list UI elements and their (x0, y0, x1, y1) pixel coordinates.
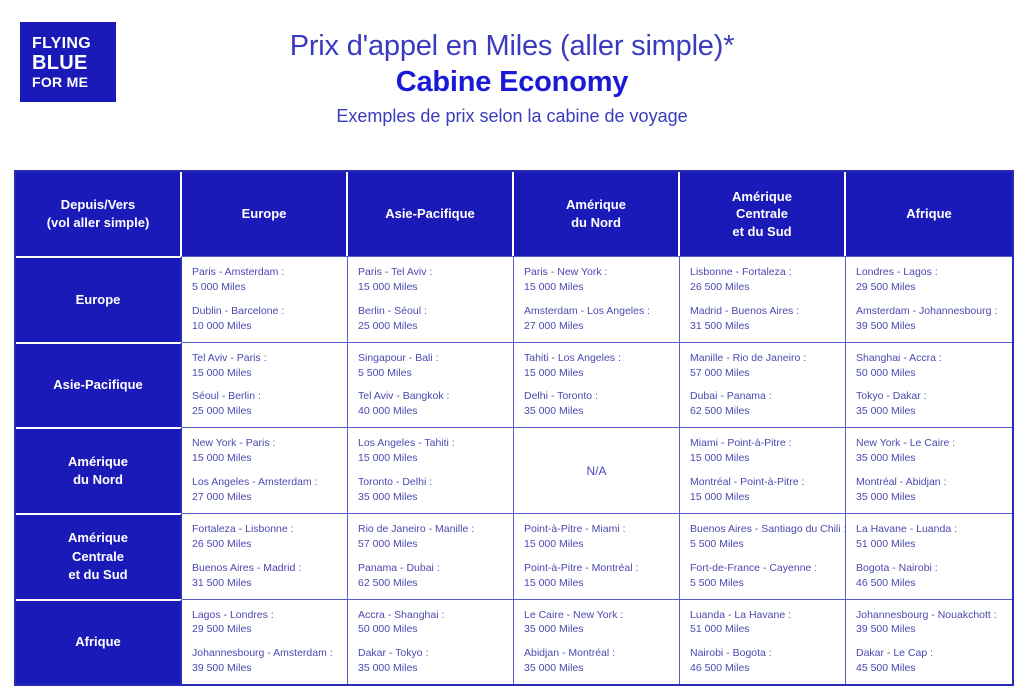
table-row: Asie-PacifiqueTel Aviv - Paris :15 000 M… (16, 342, 1012, 428)
fare-entry: Berlin - Séoul :25 000 Miles (358, 304, 503, 334)
fare-route: Montréal - Abidjan : (856, 475, 1002, 490)
fare-miles: 5 500 Miles (690, 537, 835, 552)
fare-route: Paris - New York : (524, 265, 669, 280)
column-header-asia-pacific: Asie-Pacifique (348, 172, 514, 256)
fare-cell: N/A (514, 427, 680, 513)
fare-miles: 15 000 Miles (524, 280, 669, 295)
fare-miles: 10 000 Miles (192, 319, 337, 334)
fare-cell: Tahiti - Los Angeles :15 000 MilesDelhi … (514, 342, 680, 428)
fare-miles: 50 000 Miles (358, 622, 503, 637)
fare-entry: New York - Le Caire :35 000 Miles (856, 436, 1002, 466)
fare-route: Bogota - Nairobi : (856, 561, 1002, 576)
fare-route: Buenos Aires - Madrid : (192, 561, 337, 576)
fare-route: Lagos - Londres : (192, 608, 337, 623)
column-header-central-south-america: Amérique Centrale et du Sud (680, 172, 846, 256)
fare-route: Paris - Tel Aviv : (358, 265, 503, 280)
fare-entry: Point-à-Pitre - Miami :15 000 Miles (524, 522, 669, 552)
fare-entry: Dakar - Le Cap :45 500 Miles (856, 646, 1002, 676)
fare-cell: La Havane - Luanda :51 000 MilesBogota -… (846, 513, 1012, 599)
fare-entry: Rio de Janeiro - Manille :57 000 Miles (358, 522, 503, 552)
fare-cell: Manille - Rio de Janeiro :57 000 MilesDu… (680, 342, 846, 428)
fare-miles: 27 000 Miles (524, 319, 669, 334)
fare-entry: Paris - Tel Aviv :15 000 Miles (358, 265, 503, 295)
fare-route: Buenos Aires - Santiago du Chili : (690, 522, 835, 537)
fare-cell: Londres - Lagos :29 500 MilesAmsterdam -… (846, 256, 1012, 342)
row-header-3: Amériquedu Nord (16, 427, 182, 513)
fare-route: Madrid - Buenos Aires : (690, 304, 835, 319)
row-header-line: Amérique (22, 453, 174, 471)
column-header-north-america-line2: du Nord (520, 214, 672, 232)
fare-route: Berlin - Séoul : (358, 304, 503, 319)
fare-cell: Tel Aviv - Paris :15 000 MilesSéoul - Be… (182, 342, 348, 428)
fare-route: Abidjan - Montréal : (524, 646, 669, 661)
fare-entry: Nairobi - Bogota :46 500 Miles (690, 646, 835, 676)
fare-entry: Accra - Shanghai :50 000 Miles (358, 608, 503, 638)
fare-route: Tokyo - Dakar : (856, 389, 1002, 404)
fare-entry: Fortaleza - Lisbonne :26 500 Miles (192, 522, 337, 552)
fare-cell: Paris - Tel Aviv :15 000 MilesBerlin - S… (348, 256, 514, 342)
fare-miles: 29 500 Miles (192, 622, 337, 637)
fare-cell: Fortaleza - Lisbonne :26 500 MilesBuenos… (182, 513, 348, 599)
fare-route: Delhi - Toronto : (524, 389, 669, 404)
fare-entry: Buenos Aires - Santiago du Chili :5 500 … (690, 522, 835, 552)
fare-entry: Johannesbourg - Amsterdam :39 500 Miles (192, 646, 337, 676)
fare-miles: 26 500 Miles (690, 280, 835, 295)
fare-route: Amsterdam - Johannesbourg : (856, 304, 1002, 319)
fare-miles: 35 000 Miles (856, 490, 1002, 505)
fare-cell: Le Caire - New York :35 000 MilesAbidjan… (514, 599, 680, 685)
fare-entry: Shanghai - Accra :50 000 Miles (856, 351, 1002, 381)
fare-miles: 5 500 Miles (690, 576, 835, 591)
fare-cell: Johannesbourg - Nouakchott :39 500 Miles… (846, 599, 1012, 685)
fare-route: New York - Le Caire : (856, 436, 1002, 451)
fare-miles: 51 000 Miles (856, 537, 1002, 552)
fare-entry: Le Caire - New York :35 000 Miles (524, 608, 669, 638)
fare-route: Fort-de-France - Cayenne : (690, 561, 835, 576)
fare-table-head: Depuis/Vers (vol aller simple) Europe As… (16, 172, 1012, 256)
fare-route: Toronto - Delhi : (358, 475, 503, 490)
fare-entry: Dakar - Tokyo :35 000 Miles (358, 646, 503, 676)
fare-miles: 27 000 Miles (192, 490, 337, 505)
page-caption: Exemples de prix selon la cabine de voya… (0, 106, 1024, 127)
fare-cell: Singapour - Bali :5 500 MilesTel Aviv - … (348, 342, 514, 428)
fare-route: Johannesbourg - Amsterdam : (192, 646, 337, 661)
fare-route: Lisbonne - Fortaleza : (690, 265, 835, 280)
fare-cell: Rio de Janeiro - Manille :57 000 MilesPa… (348, 513, 514, 599)
fare-entry: Tokyo - Dakar :35 000 Miles (856, 389, 1002, 419)
fare-entry: La Havane - Luanda :51 000 Miles (856, 522, 1002, 552)
page-title: Prix d'appel en Miles (aller simple)* (0, 30, 1024, 63)
fare-miles: 35 000 Miles (524, 622, 669, 637)
fare-miles: 39 500 Miles (192, 661, 337, 676)
fare-route: Fortaleza - Lisbonne : (192, 522, 337, 537)
fare-miles: 31 500 Miles (690, 319, 835, 334)
fare-table-body: EuropeParis - Amsterdam :5 000 MilesDubl… (16, 256, 1012, 684)
fare-cell: New York - Le Caire :35 000 MilesMontréa… (846, 427, 1012, 513)
fare-miles: 35 000 Miles (856, 404, 1002, 419)
fare-miles: 62 500 Miles (690, 404, 835, 419)
fare-entry: Tel Aviv - Bangkok :40 000 Miles (358, 389, 503, 419)
fare-cell: Lisbonne - Fortaleza :26 500 MilesMadrid… (680, 256, 846, 342)
fare-route: Johannesbourg - Nouakchott : (856, 608, 1002, 623)
column-header-central-south-america-line1: Amérique (686, 188, 838, 206)
row-header-5: Afrique (16, 599, 182, 685)
fare-route: Manille - Rio de Janeiro : (690, 351, 835, 366)
fare-table: Depuis/Vers (vol aller simple) Europe As… (14, 170, 1014, 686)
row-header-line: et du Sud (22, 566, 174, 584)
row-header-line: Centrale (22, 548, 174, 566)
row-header-1: Europe (16, 256, 182, 342)
fare-cell: New York - Paris :15 000 MilesLos Angele… (182, 427, 348, 513)
fare-miles: 15 000 Miles (690, 490, 835, 505)
fare-entry: Delhi - Toronto :35 000 Miles (524, 389, 669, 419)
fare-entry: Johannesbourg - Nouakchott :39 500 Miles (856, 608, 1002, 638)
fare-entry: Luanda - La Havane :51 000 Miles (690, 608, 835, 638)
fare-route: New York - Paris : (192, 436, 337, 451)
fare-route: Singapour - Bali : (358, 351, 503, 366)
fare-entry: Fort-de-France - Cayenne :5 500 Miles (690, 561, 835, 591)
row-header-line: Asie-Pacifique (22, 376, 174, 394)
fare-entry: Buenos Aires - Madrid :31 500 Miles (192, 561, 337, 591)
fare-miles: 15 000 Miles (690, 451, 835, 466)
fare-miles: 15 000 Miles (358, 451, 503, 466)
fare-route: Los Angeles - Tahiti : (358, 436, 503, 451)
fare-route: Le Caire - New York : (524, 608, 669, 623)
fare-route: Tel Aviv - Paris : (192, 351, 337, 366)
fare-entry: Manille - Rio de Janeiro :57 000 Miles (690, 351, 835, 381)
fare-route: Point-à-Pitre - Miami : (524, 522, 669, 537)
fare-entry: Abidjan - Montréal :35 000 Miles (524, 646, 669, 676)
fare-cell: Buenos Aires - Santiago du Chili :5 500 … (680, 513, 846, 599)
fare-route: Dakar - Tokyo : (358, 646, 503, 661)
fare-entry: Montréal - Point-à-Pitre :15 000 Miles (690, 475, 835, 505)
fare-route: Rio de Janeiro - Manille : (358, 522, 503, 537)
fare-cell: Paris - Amsterdam :5 000 MilesDublin - B… (182, 256, 348, 342)
fare-miles: 35 000 Miles (524, 661, 669, 676)
column-header-north-america: Amérique du Nord (514, 172, 680, 256)
fare-entry: Paris - Amsterdam :5 000 Miles (192, 265, 337, 295)
fare-cell: Miami - Point-à-Pitre :15 000 MilesMontr… (680, 427, 846, 513)
fare-miles: 46 500 Miles (690, 661, 835, 676)
fare-miles: 15 000 Miles (192, 451, 337, 466)
fare-miles: 35 000 Miles (358, 661, 503, 676)
fare-route: Dublin - Barcelone : (192, 304, 337, 319)
table-row: Amériquedu NordNew York - Paris :15 000 … (16, 427, 1012, 513)
fare-miles: 15 000 Miles (358, 280, 503, 295)
fare-miles: 35 000 Miles (358, 490, 503, 505)
fare-miles: 50 000 Miles (856, 366, 1002, 381)
fare-route: Séoul - Berlin : (192, 389, 337, 404)
column-header-origin-destination-line1: Depuis/Vers (22, 196, 174, 214)
table-row: AfriqueLagos - Londres :29 500 MilesJoha… (16, 599, 1012, 685)
fare-entry: Point-à-Pitre - Montréal :15 000 Miles (524, 561, 669, 591)
column-header-central-south-america-line3: et du Sud (686, 223, 838, 241)
fare-table-wrap: Depuis/Vers (vol aller simple) Europe As… (14, 170, 1010, 686)
fare-route: Panama - Dubai : (358, 561, 503, 576)
row-header-2: Asie-Pacifique (16, 342, 182, 428)
fare-route: Londres - Lagos : (856, 265, 1002, 280)
fare-miles: 46 500 Miles (856, 576, 1002, 591)
fare-miles: 15 000 Miles (192, 366, 337, 381)
row-header-line: Afrique (22, 633, 174, 651)
fare-entry: Miami - Point-à-Pitre :15 000 Miles (690, 436, 835, 466)
page-subtitle: Cabine Economy (0, 65, 1024, 100)
fare-miles: 5 500 Miles (358, 366, 503, 381)
fare-miles: 62 500 Miles (358, 576, 503, 591)
fare-miles: 57 000 Miles (690, 366, 835, 381)
fare-entry: Amsterdam - Los Angeles :27 000 Miles (524, 304, 669, 334)
row-header-4: AmériqueCentraleet du Sud (16, 513, 182, 599)
fare-entry: Los Angeles - Amsterdam :27 000 Miles (192, 475, 337, 505)
fare-entry: Singapour - Bali :5 500 Miles (358, 351, 503, 381)
fare-miles: 29 500 Miles (856, 280, 1002, 295)
fare-entry: Paris - New York :15 000 Miles (524, 265, 669, 295)
fare-route: Montréal - Point-à-Pitre : (690, 475, 835, 490)
fare-miles: 15 000 Miles (524, 537, 669, 552)
table-row: AmériqueCentraleet du SudFortaleza - Lis… (16, 513, 1012, 599)
fare-cell: Lagos - Londres :29 500 MilesJohannesbou… (182, 599, 348, 685)
table-header-row: Depuis/Vers (vol aller simple) Europe As… (16, 172, 1012, 256)
row-header-line: du Nord (22, 471, 174, 489)
fare-miles: 15 000 Miles (524, 366, 669, 381)
fare-route: Luanda - La Havane : (690, 608, 835, 623)
fare-entry: Tahiti - Los Angeles :15 000 Miles (524, 351, 669, 381)
fare-route: Dakar - Le Cap : (856, 646, 1002, 661)
fare-entry: Dubai - Panama :62 500 Miles (690, 389, 835, 419)
fare-miles: 5 000 Miles (192, 280, 337, 295)
fare-entry: Tel Aviv - Paris :15 000 Miles (192, 351, 337, 381)
fare-chart-page: FLYING BLUE FOR ME Prix d'appel en Miles… (0, 0, 1024, 646)
fare-miles: 35 000 Miles (524, 404, 669, 419)
fare-entry: Londres - Lagos :29 500 Miles (856, 265, 1002, 295)
fare-miles: 25 000 Miles (192, 404, 337, 419)
row-header-line: Amérique (22, 529, 174, 547)
fare-cell: Luanda - La Havane :51 000 MilesNairobi … (680, 599, 846, 685)
fare-cell: Paris - New York :15 000 MilesAmsterdam … (514, 256, 680, 342)
fare-cell: Shanghai - Accra :50 000 MilesTokyo - Da… (846, 342, 1012, 428)
fare-miles: 39 500 Miles (856, 622, 1002, 637)
page-header: FLYING BLUE FOR ME Prix d'appel en Miles… (0, 0, 1024, 160)
fare-miles: 39 500 Miles (856, 319, 1002, 334)
title-block: Prix d'appel en Miles (aller simple)* Ca… (0, 30, 1024, 127)
fare-entry: Madrid - Buenos Aires :31 500 Miles (690, 304, 835, 334)
fare-route: Tahiti - Los Angeles : (524, 351, 669, 366)
fare-miles: 25 000 Miles (358, 319, 503, 334)
fare-entry: Bogota - Nairobi :46 500 Miles (856, 561, 1002, 591)
fare-route: Tel Aviv - Bangkok : (358, 389, 503, 404)
fare-miles: 45 500 Miles (856, 661, 1002, 676)
column-header-origin-destination-line2: (vol aller simple) (22, 214, 174, 232)
column-header-europe: Europe (182, 172, 348, 256)
fare-entry: Séoul - Berlin :25 000 Miles (192, 389, 337, 419)
fare-route: Shanghai - Accra : (856, 351, 1002, 366)
fare-route: Accra - Shanghai : (358, 608, 503, 623)
fare-route: Los Angeles - Amsterdam : (192, 475, 337, 490)
row-header-line: Europe (22, 291, 174, 309)
fare-entry: Lagos - Londres :29 500 Miles (192, 608, 337, 638)
fare-miles: 31 500 Miles (192, 576, 337, 591)
column-header-origin-destination: Depuis/Vers (vol aller simple) (16, 172, 182, 256)
fare-entry: Dublin - Barcelone :10 000 Miles (192, 304, 337, 334)
fare-route: La Havane - Luanda : (856, 522, 1002, 537)
fare-cell: Los Angeles - Tahiti :15 000 MilesToront… (348, 427, 514, 513)
fare-miles: 35 000 Miles (856, 451, 1002, 466)
fare-miles: 51 000 Miles (690, 622, 835, 637)
fare-route: Paris - Amsterdam : (192, 265, 337, 280)
fare-miles: 57 000 Miles (358, 537, 503, 552)
fare-route: Nairobi - Bogota : (690, 646, 835, 661)
column-header-central-south-america-line2: Centrale (686, 205, 838, 223)
fare-route: Amsterdam - Los Angeles : (524, 304, 669, 319)
not-available-label: N/A (524, 464, 669, 478)
fare-cell: Point-à-Pitre - Miami :15 000 MilesPoint… (514, 513, 680, 599)
fare-entry: Lisbonne - Fortaleza :26 500 Miles (690, 265, 835, 295)
fare-cell: Accra - Shanghai :50 000 MilesDakar - To… (348, 599, 514, 685)
fare-entry: Montréal - Abidjan :35 000 Miles (856, 475, 1002, 505)
table-row: EuropeParis - Amsterdam :5 000 MilesDubl… (16, 256, 1012, 342)
fare-entry: Los Angeles - Tahiti :15 000 Miles (358, 436, 503, 466)
fare-route: Dubai - Panama : (690, 389, 835, 404)
fare-entry: Toronto - Delhi :35 000 Miles (358, 475, 503, 505)
fare-miles: 26 500 Miles (192, 537, 337, 552)
column-header-north-america-line1: Amérique (520, 196, 672, 214)
fare-route: Point-à-Pitre - Montréal : (524, 561, 669, 576)
fare-entry: Panama - Dubai :62 500 Miles (358, 561, 503, 591)
fare-miles: 40 000 Miles (358, 404, 503, 419)
fare-route: Miami - Point-à-Pitre : (690, 436, 835, 451)
fare-entry: New York - Paris :15 000 Miles (192, 436, 337, 466)
fare-entry: Amsterdam - Johannesbourg :39 500 Miles (856, 304, 1002, 334)
column-header-africa: Afrique (846, 172, 1012, 256)
fare-miles: 15 000 Miles (524, 576, 669, 591)
